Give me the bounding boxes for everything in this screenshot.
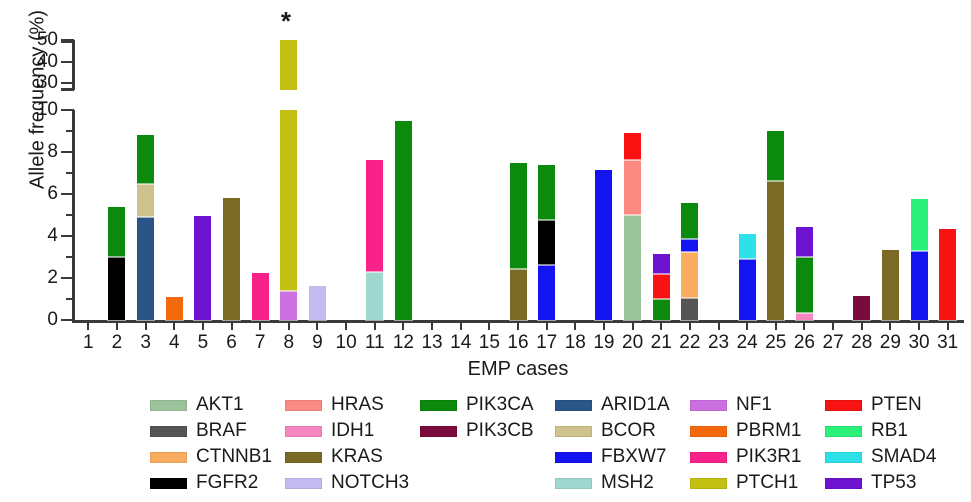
- legend-swatch-icon: [420, 426, 457, 437]
- legend-item-msh2[interactable]: MSH2: [555, 472, 690, 494]
- bar-stack: [681, 203, 698, 320]
- bar-segment-pik3ca: [653, 299, 670, 320]
- bar-stack: [739, 234, 756, 320]
- bar-stack: [796, 227, 813, 320]
- legend-swatch-icon: [150, 400, 187, 411]
- y-tick-label: 8: [16, 142, 58, 161]
- legend-label: BCOR: [601, 420, 656, 442]
- bar-segment-fbxw7: [681, 239, 698, 252]
- x-tick-mark: [374, 322, 376, 330]
- plot-area-upper: 304050: [74, 40, 962, 90]
- legend-label: SMAD4: [871, 446, 936, 468]
- x-tick-mark: [231, 322, 233, 330]
- legend-swatch-icon: [555, 478, 592, 489]
- legend-item-pten[interactable]: PTEN: [825, 394, 960, 416]
- significance-asterisk: *: [281, 8, 291, 34]
- y-tick-mark: [61, 235, 74, 237]
- x-tick-mark: [173, 322, 175, 330]
- y-tick-minor: [66, 298, 74, 300]
- legend-item-ctnnb1[interactable]: CTNNB1: [150, 446, 285, 468]
- x-tick-mark: [345, 322, 347, 330]
- x-tick-mark: [288, 322, 290, 330]
- legend-item-idh1[interactable]: IDH1: [285, 420, 420, 442]
- x-axis-label: EMP cases: [74, 358, 962, 381]
- legend-label: PBRM1: [736, 420, 801, 442]
- x-tick-mark: [546, 322, 548, 330]
- legend-item-hras[interactable]: HRAS: [285, 394, 420, 416]
- legend-label: BRAF: [196, 420, 247, 442]
- legend-swatch-icon: [555, 400, 592, 411]
- legend-label: IDH1: [331, 420, 374, 442]
- bar-segment-pik3r1: [366, 160, 383, 271]
- bar-stack: [309, 286, 326, 320]
- bar-segment-msh2: [366, 272, 383, 320]
- bar-stack: [108, 207, 125, 320]
- y-tick-minor: [66, 130, 74, 132]
- legend-label: FBXW7: [601, 446, 666, 468]
- x-tick-mark: [746, 322, 748, 330]
- bar-segment-fgfr2: [108, 257, 125, 320]
- bar-segment-smad4: [739, 234, 756, 259]
- bar-segment-pik3ca: [767, 131, 784, 181]
- bar-segment-nf1: [280, 291, 297, 320]
- legend-item-kras[interactable]: KRAS: [285, 446, 420, 468]
- y-tick-mark: [61, 151, 74, 153]
- bar-stack: [194, 216, 211, 320]
- y-axis-break-cap: [61, 88, 74, 91]
- legend-swatch-icon: [690, 426, 727, 437]
- bar-segment-pik3ca: [395, 121, 412, 321]
- bar-segment-ptch1: [280, 110, 297, 291]
- bar-segment-pten: [939, 229, 956, 320]
- bar-stack-upper: [280, 40, 297, 90]
- x-tick-mark: [259, 322, 261, 330]
- x-tick-mark: [889, 322, 891, 330]
- legend-label: MSH2: [601, 472, 654, 494]
- y-tick-mark: [61, 277, 74, 279]
- legend-label: PTCH1: [736, 472, 798, 494]
- bar-segment-braf: [681, 298, 698, 320]
- y-tick-minor: [66, 172, 74, 174]
- bar-segment-tp53: [653, 254, 670, 274]
- bar-stack: [223, 198, 240, 320]
- legend-label: KRAS: [331, 446, 383, 468]
- bar-stack: [624, 133, 641, 320]
- legend-item-fbxw7[interactable]: FBXW7: [555, 446, 690, 468]
- x-tick-mark: [145, 322, 147, 330]
- x-tick-mark: [832, 322, 834, 330]
- x-tick-mark: [947, 322, 949, 330]
- legend-label: HRAS: [331, 394, 384, 416]
- x-tick-label: 31: [931, 332, 965, 354]
- x-tick-mark: [632, 322, 634, 330]
- bar-segment-akt1: [624, 215, 641, 320]
- y-tick-label: 40: [16, 52, 58, 71]
- x-tick-mark: [402, 322, 404, 330]
- bar-segment-hras: [624, 160, 641, 215]
- bar-segment-tp53: [796, 227, 813, 257]
- bar-stack: [538, 165, 555, 320]
- y-tick-minor: [66, 214, 74, 216]
- y-tick-mark: [61, 109, 74, 111]
- bar-stack: [767, 131, 784, 320]
- bar-stack: [939, 229, 956, 320]
- y-tick-mark: [61, 319, 74, 321]
- bar-segment-fbxw7: [595, 170, 612, 320]
- legend-item-ptch1[interactable]: PTCH1: [690, 472, 825, 494]
- legend-label: NOTCH3: [331, 472, 409, 494]
- bar-stack: [252, 273, 269, 320]
- legend-swatch-icon: [285, 478, 322, 489]
- legend-label: PIK3R1: [736, 446, 801, 468]
- bar-segment-fgfr2: [538, 220, 555, 265]
- x-tick-mark: [660, 322, 662, 330]
- legend-swatch-icon: [150, 478, 187, 489]
- legend-label: NF1: [736, 394, 772, 416]
- x-tick-mark: [775, 322, 777, 330]
- legend-swatch-icon: [690, 478, 727, 489]
- y-tick-label: 4: [16, 226, 58, 245]
- bar-segment-pik3ca: [538, 165, 555, 221]
- bar-stack: [366, 160, 383, 320]
- chart-legend: AKT1HRASPIK3CAARID1ANF1PTENBRAFIDH1PIK3C…: [150, 392, 960, 498]
- legend-item-pik3ca[interactable]: PIK3CA: [420, 394, 555, 416]
- x-tick-mark: [316, 322, 318, 330]
- legend-item-fgfr2[interactable]: FGFR2: [150, 472, 285, 494]
- bar-segment-rb1: [911, 199, 928, 250]
- bar-stack: [280, 110, 297, 320]
- bar-stack: [853, 296, 870, 320]
- legend-item-rb1[interactable]: RB1: [825, 420, 960, 442]
- bar-stack: [911, 199, 928, 320]
- legend-item-pbrm1[interactable]: PBRM1: [690, 420, 825, 442]
- legend-swatch-icon: [690, 400, 727, 411]
- bar-segment-pik3cb: [853, 296, 870, 320]
- bar-segment-arid1a: [137, 217, 154, 320]
- x-tick-mark: [603, 322, 605, 330]
- legend-label: PIK3CB: [466, 420, 534, 442]
- y-tick-label: 2: [16, 268, 58, 287]
- y-tick-label: 6: [16, 184, 58, 203]
- x-tick-mark: [689, 322, 691, 330]
- y-tick-label: 0: [16, 310, 58, 329]
- y-tick-minor: [66, 256, 74, 258]
- bar-stack: [882, 250, 899, 320]
- bar-stack: [137, 135, 154, 320]
- bar-segment-ptch1: [280, 40, 297, 90]
- bar-stack: [510, 163, 527, 320]
- legend-swatch-icon: [285, 400, 322, 411]
- bar-segment-kras: [767, 181, 784, 320]
- legend-item-bcor[interactable]: BCOR: [555, 420, 690, 442]
- x-tick-mark: [918, 322, 920, 330]
- bar-segment-fbxw7: [739, 259, 756, 320]
- legend-label: PTEN: [871, 394, 922, 416]
- legend-item-arid1a[interactable]: ARID1A: [555, 394, 690, 416]
- legend-swatch-icon: [555, 426, 592, 437]
- bar-segment-tp53: [194, 216, 211, 320]
- bar-stack: [595, 170, 612, 320]
- legend-item-pik3cb[interactable]: PIK3CB: [420, 420, 555, 442]
- x-tick-mark: [718, 322, 720, 330]
- x-tick-mark: [202, 322, 204, 330]
- legend-label: CTNNB1: [196, 446, 272, 468]
- legend-swatch-icon: [825, 452, 862, 463]
- y-tick-mark: [61, 61, 74, 63]
- legend-item-tp53[interactable]: TP53: [825, 472, 960, 494]
- x-tick-mark: [431, 322, 433, 330]
- legend-item-pik3r1[interactable]: PIK3R1: [690, 446, 825, 468]
- bar-stack: [166, 297, 183, 320]
- x-tick-mark: [517, 322, 519, 330]
- bar-segment-notch3: [309, 286, 326, 320]
- bar-segment-pik3r1: [252, 273, 269, 320]
- legend-swatch-icon: [285, 452, 322, 463]
- bar-segment-pik3ca: [108, 207, 125, 257]
- legend-swatch-icon: [150, 452, 187, 463]
- y-tick-mark: [61, 193, 74, 195]
- bar-segment-bcor: [137, 184, 154, 218]
- legend-item-notch3[interactable]: NOTCH3: [285, 472, 420, 494]
- legend-label: AKT1: [196, 394, 244, 416]
- legend-item-akt1[interactable]: AKT1: [150, 394, 285, 416]
- plot-area-lower: 0246810123456789101112131415161718192021…: [74, 110, 962, 320]
- legend-label: TP53: [871, 472, 916, 494]
- bar-segment-pik3ca: [796, 257, 813, 313]
- legend-label: FGFR2: [196, 472, 258, 494]
- legend-swatch-icon: [420, 400, 457, 411]
- legend-label: PIK3CA: [466, 394, 534, 416]
- bar-segment-ctnnb1: [681, 252, 698, 298]
- legend-item-nf1[interactable]: NF1: [690, 394, 825, 416]
- legend-swatch-icon: [555, 452, 592, 463]
- y-tick-label: 10: [16, 100, 58, 119]
- bar-segment-kras: [223, 198, 240, 320]
- legend-swatch-icon: [690, 452, 727, 463]
- bar-segment-pik3ca: [137, 135, 154, 183]
- y-tick-mark: [61, 82, 74, 84]
- bar-stack: [653, 254, 670, 320]
- bar-segment-pbrm1: [166, 297, 183, 320]
- bar-segment-pten: [653, 274, 670, 299]
- legend-item-braf[interactable]: BRAF: [150, 420, 285, 442]
- x-tick-mark: [574, 322, 576, 330]
- bar-segment-fbxw7: [538, 265, 555, 320]
- x-tick-mark: [861, 322, 863, 330]
- x-tick-mark: [116, 322, 118, 330]
- bar-segment-fbxw7: [911, 251, 928, 320]
- y-tick-label: 30: [16, 73, 58, 92]
- x-tick-mark: [460, 322, 462, 330]
- legend-swatch-icon: [825, 426, 862, 437]
- bar-segment-kras: [510, 269, 527, 320]
- bar-segment-kras: [882, 250, 899, 320]
- legend-swatch-icon: [150, 426, 187, 437]
- legend-item-smad4[interactable]: SMAD4: [825, 446, 960, 468]
- bar-segment-idh1: [796, 313, 813, 320]
- bar-segment-pten: [624, 133, 641, 160]
- x-tick-mark: [488, 322, 490, 330]
- bar-segment-pik3ca: [510, 163, 527, 269]
- y-tick-mark: [61, 39, 74, 41]
- legend-label: ARID1A: [601, 394, 670, 416]
- y-tick-label: 50: [16, 30, 58, 49]
- legend-swatch-icon: [285, 426, 322, 437]
- x-tick-mark: [87, 322, 89, 330]
- chart-figure: Allele frequency (%) * 304050 0246810123…: [0, 0, 971, 502]
- legend-swatch-icon: [825, 478, 862, 489]
- bar-segment-pik3ca: [681, 203, 698, 239]
- x-tick-mark: [803, 322, 805, 330]
- bar-stack: [395, 121, 412, 321]
- legend-swatch-icon: [825, 400, 862, 411]
- legend-label: RB1: [871, 420, 908, 442]
